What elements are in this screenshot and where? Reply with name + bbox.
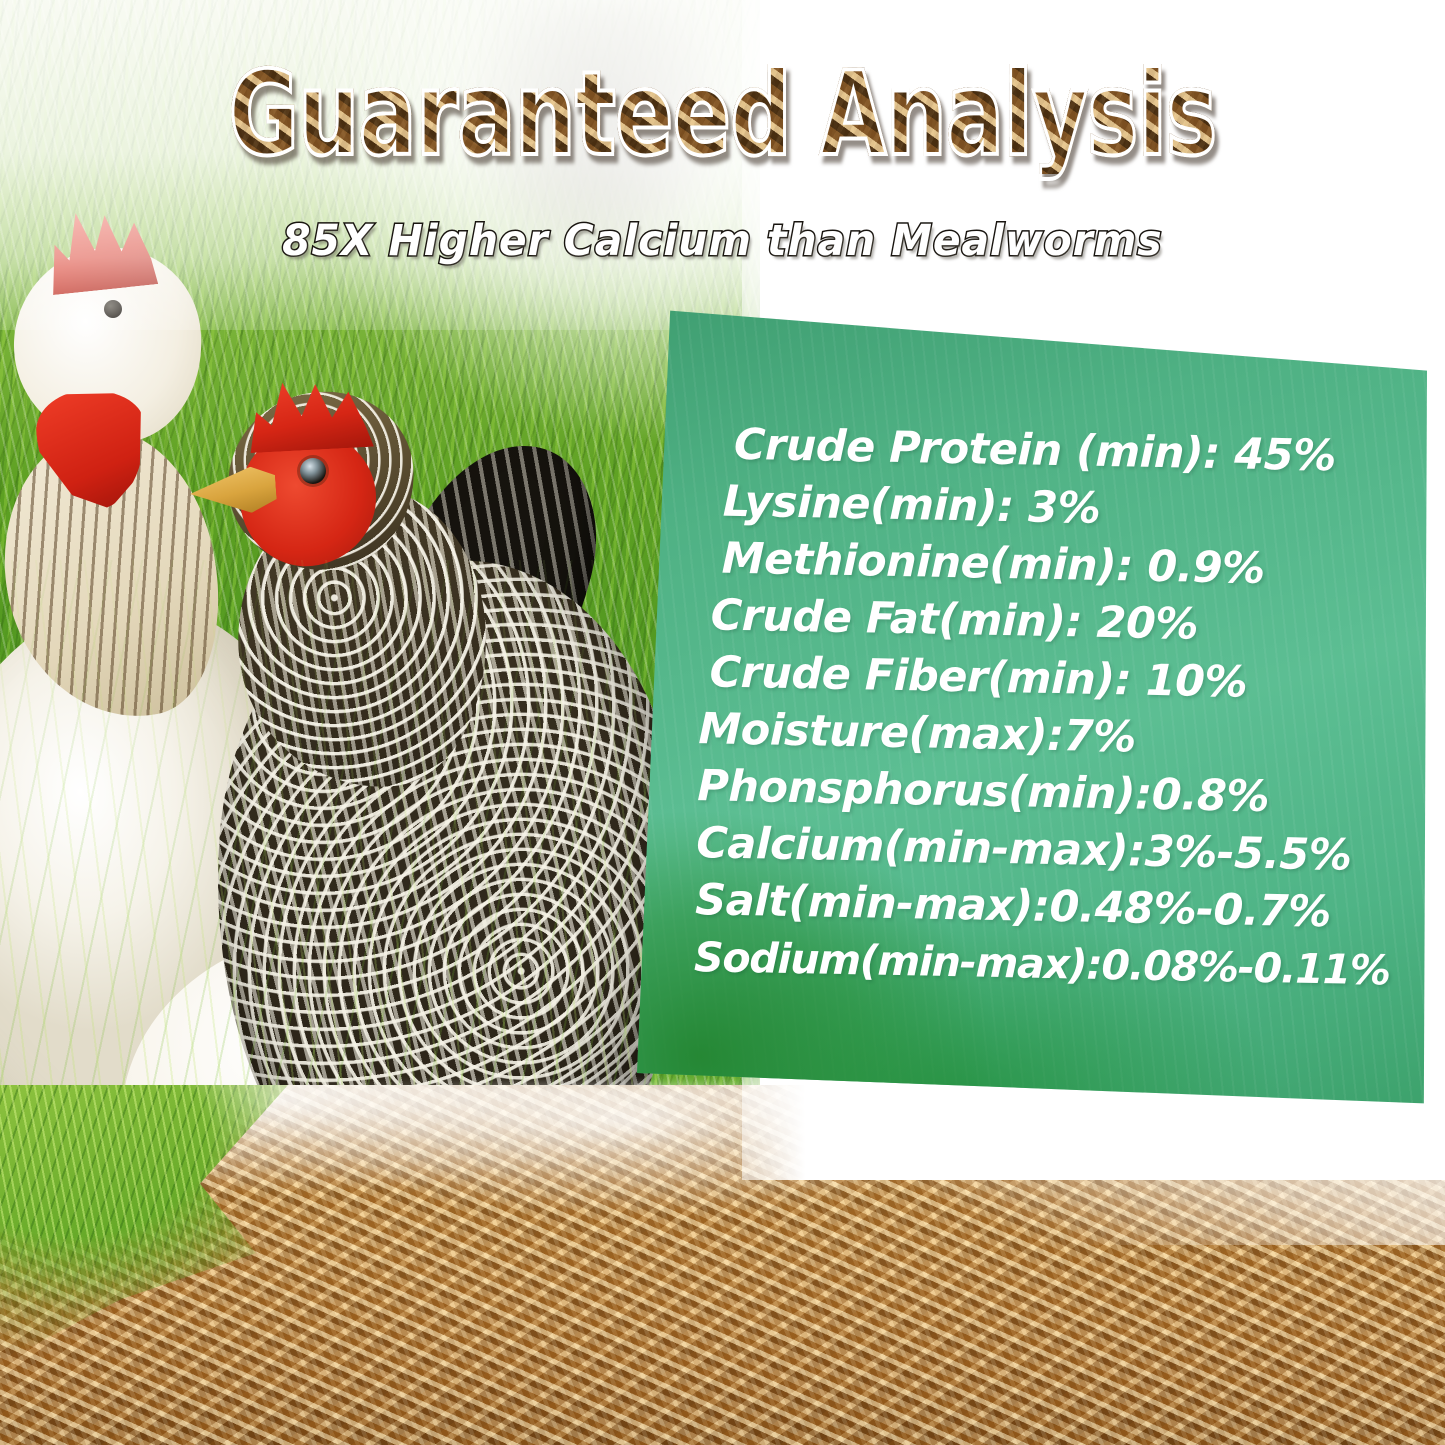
subtitle-area: 85X Higher Calcium than Mealworms — [0, 216, 1445, 266]
product-infographic: Guaranteed Analysis 85X Higher Calcium t… — [0, 0, 1445, 1445]
speckled-hen-eye — [300, 458, 326, 484]
analysis-list: Crude Protein (min): 45% Lysine(min): 3%… — [694, 416, 1417, 1000]
page-subtitle: 85X Higher Calcium than Mealworms — [282, 216, 1162, 266]
page-title: Guaranteed Analysis — [228, 56, 1216, 174]
title-area: Guaranteed Analysis — [0, 56, 1445, 174]
guaranteed-analysis-panel: Crude Protein (min): 45% Lysine(min): 3%… — [637, 305, 1427, 1105]
